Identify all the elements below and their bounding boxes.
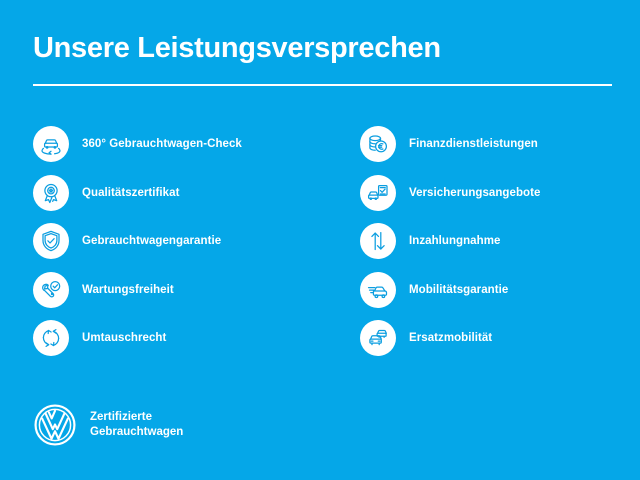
list-item-label: Qualitätszertifikat: [82, 186, 179, 200]
list-item[interactable]: Inzahlungnahme: [360, 223, 640, 259]
list-item[interactable]: Finanzdienstleistungen: [360, 126, 640, 162]
list-item[interactable]: Mobilitätsgarantie: [360, 272, 640, 308]
coins-euro-icon: [360, 126, 396, 162]
list-item-label: Gebrauchtwagengarantie: [82, 234, 221, 248]
up-down-arrows-icon: [360, 223, 396, 259]
brand-text-line2: Gebrauchtwagen: [90, 425, 183, 440]
award-rosette-icon: [33, 175, 69, 211]
page-title: Unsere Leistungsversprechen: [33, 30, 441, 66]
list-item-label: Mobilitätsgarantie: [409, 283, 508, 297]
exchange-arrows-icon: [33, 320, 69, 356]
list-item-label: Versicherungsangebote: [409, 186, 540, 200]
list-item[interactable]: 360° Gebrauchtwagen-Check: [33, 126, 313, 162]
list-item[interactable]: Wartungsfreiheit: [33, 272, 313, 308]
two-cars-icon: [360, 320, 396, 356]
list-item-label: Wartungsfreiheit: [82, 283, 174, 297]
brand-lockup: Zertifizierte Gebrauchtwagen: [33, 403, 183, 447]
benefits-right-column: Finanzdienstleistungen Versicherungsange…: [360, 126, 640, 369]
car-document-check-icon: [360, 175, 396, 211]
list-item[interactable]: Umtauschrecht: [33, 320, 313, 356]
brand-text-line1: Zertifizierte: [90, 410, 183, 425]
list-item-label: Finanzdienstleistungen: [409, 137, 538, 151]
volkswagen-roundel-logo: [33, 403, 77, 447]
benefits-left-column: 360° Gebrauchtwagen-Check Qualitätszerti…: [33, 126, 313, 369]
list-item-label: Inzahlungnahme: [409, 234, 500, 248]
list-item[interactable]: Qualitätszertifikat: [33, 175, 313, 211]
list-item[interactable]: Versicherungsangebote: [360, 175, 640, 211]
shield-check-icon: [33, 223, 69, 259]
brand-text: Zertifizierte Gebrauchtwagen: [90, 410, 183, 440]
list-item-label: 360° Gebrauchtwagen-Check: [82, 137, 242, 151]
car-speed-icon: [360, 272, 396, 308]
title-divider: [33, 84, 612, 86]
list-item-label: Ersatzmobilität: [409, 331, 492, 345]
list-item-label: Umtauschrecht: [82, 331, 166, 345]
car-360-check-icon: [33, 126, 69, 162]
wrench-check-icon: [33, 272, 69, 308]
list-item[interactable]: Gebrauchtwagengarantie: [33, 223, 313, 259]
promise-panel: Unsere Leistungsversprechen 360° Gebrauc…: [0, 0, 640, 480]
list-item[interactable]: Ersatzmobilität: [360, 320, 640, 356]
